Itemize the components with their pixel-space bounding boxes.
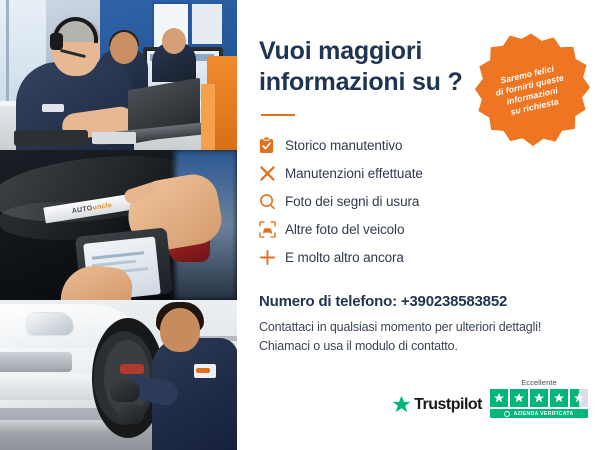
list-item-label: E molto altro ancora — [285, 250, 404, 265]
trustpilot-rating-label: Eccellente — [521, 378, 557, 387]
plus-icon — [259, 249, 285, 266]
feature-list: Storico manutentivo Manutenzioni effettu… — [259, 131, 549, 271]
photo-column: AUTOuncle — [0, 0, 237, 450]
list-item-label: Foto dei segni di usura — [285, 194, 419, 209]
star-4 — [550, 389, 568, 407]
contact-subline-1: Contattaci in qualsiasi momento per ulte… — [259, 320, 541, 334]
phone-label: Numero di telefono: — [259, 293, 401, 310]
verified-check-icon — [504, 411, 510, 417]
list-item-label: Altre foto del veicolo — [285, 222, 404, 237]
trustpilot-stars — [490, 389, 588, 407]
scan-car-icon — [259, 221, 285, 238]
phone-number[interactable]: +390238583852 — [401, 293, 507, 310]
verified-badge: AZIENDA VERIFICATA — [490, 409, 588, 418]
verified-label: AZIENDA VERIFICATA — [513, 411, 573, 417]
title-divider — [261, 114, 295, 116]
photo-car-label: AUTOuncle — [0, 150, 237, 300]
list-item: E molto altro ancora — [259, 243, 549, 271]
phone-line: Numero di telefono: +390238583852 — [259, 293, 507, 310]
trustpilot-widget[interactable]: Trustpilot Eccellente AZIENDA VERIFICATA — [392, 378, 588, 418]
tools-cross-icon — [259, 165, 285, 182]
trustpilot-wordmark: Trustpilot — [414, 396, 482, 414]
list-item-label: Storico manutentivo — [285, 138, 402, 153]
list-item: Storico manutentivo — [259, 131, 549, 159]
list-item-label: Manutenzioni effettuate — [285, 166, 423, 181]
page-title: Vuoi maggiori informazioni su ? — [259, 36, 469, 97]
photo-mechanic-wheel — [0, 300, 237, 450]
headset-icon — [460, 42, 486, 66]
trustpilot-logo: Trustpilot — [392, 395, 482, 418]
list-item: Altre foto del veicolo — [259, 215, 549, 243]
star-1 — [490, 389, 508, 407]
list-item: Manutenzioni effettuate — [259, 159, 549, 187]
star-5-half — [570, 389, 588, 407]
photo-call-center — [0, 0, 237, 150]
star-2 — [510, 389, 528, 407]
promo-banner: AUTOuncle Vuoi maggiori informazioni su … — [0, 0, 600, 450]
clipboard-check-icon — [259, 137, 285, 154]
list-item: Foto dei segni di usura — [259, 187, 549, 215]
content-panel: Vuoi maggiori informazioni su ? Saremo f… — [237, 0, 600, 450]
contact-subline-2: Chiamaci o usa il modulo di contatto. — [259, 339, 458, 353]
magnifier-icon — [259, 193, 285, 210]
trustpilot-star-icon — [392, 395, 411, 414]
star-3 — [530, 389, 548, 407]
